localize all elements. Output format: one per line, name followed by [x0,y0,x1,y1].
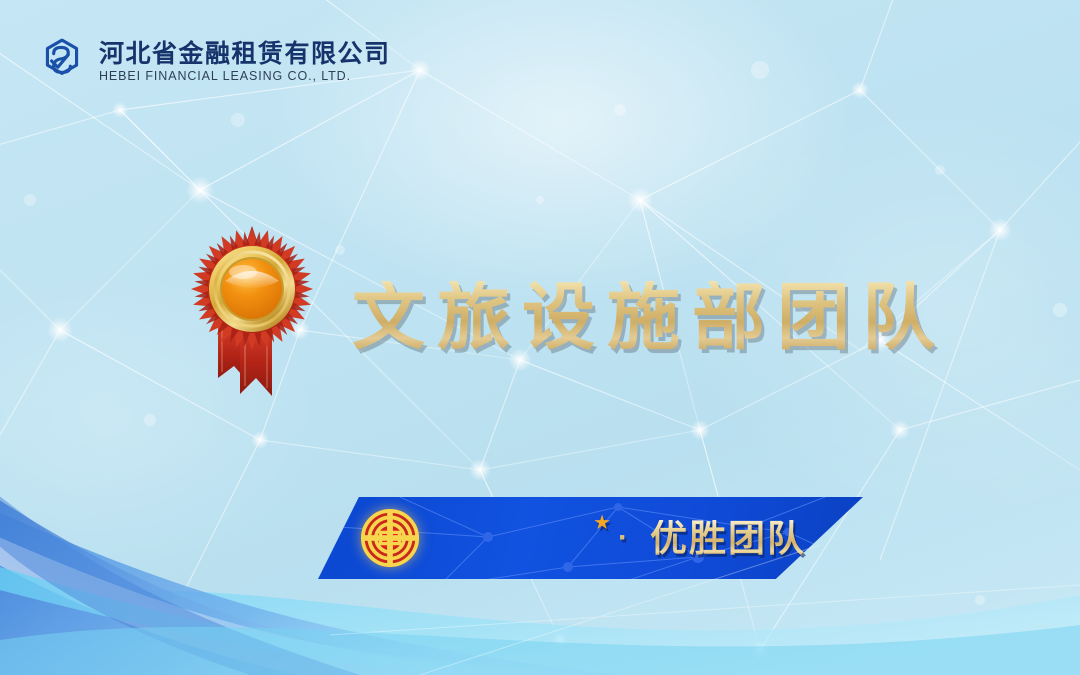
company-name-text: 河北省金融租赁有限公司 HEBEI FINANCIAL LEASING CO.,… [99,41,391,82]
page-title: 文旅设施部团队 [352,281,947,354]
company-logo-block: 河北省金融租赁有限公司 HEBEI FINANCIAL LEASING CO.,… [36,36,391,88]
award-slide: 河北省金融租赁有限公司 HEBEI FINANCIAL LEASING CO.,… [0,0,1080,675]
company-name-en: HEBEI FINANCIAL LEASING CO., LTD. [99,70,391,83]
bottom-wave-decoration [0,485,1080,675]
hexagon-interlock-logo-icon [36,36,88,88]
company-name-cn: 河北省金融租赁有限公司 [99,41,391,67]
award-rosette-ribbon-icon [182,226,322,402]
